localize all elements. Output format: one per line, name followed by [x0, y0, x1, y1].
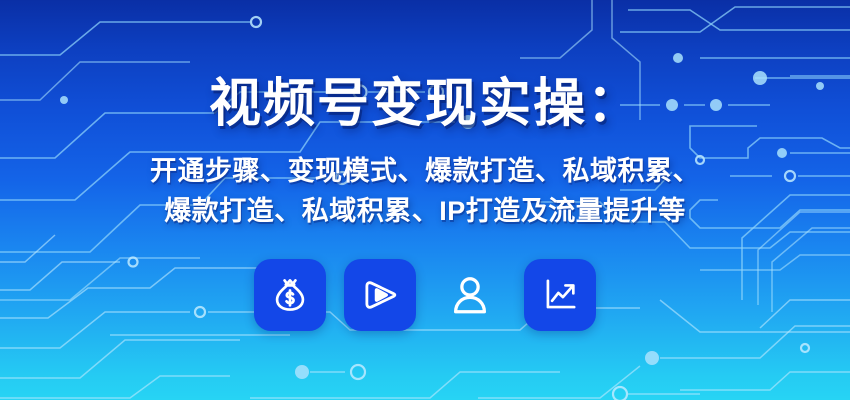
subtitle-line-1: 开通步骤、变现模式、爆款打造、私域积累、 [150, 152, 700, 190]
person-icon [434, 259, 506, 331]
subtitle-line-2: 爆款打造、私域积累、IP打造及流量提升等 [164, 192, 686, 230]
feature-icon-row [254, 259, 596, 331]
page-title: 视频号变现实操： [209, 78, 641, 130]
play-button-icon [344, 259, 416, 331]
money-bag-icon [254, 259, 326, 331]
promo-banner: .ln { fill:none; stroke:#8fd4fb; stroke-… [0, 0, 850, 400]
trending-chart-icon [524, 259, 596, 331]
